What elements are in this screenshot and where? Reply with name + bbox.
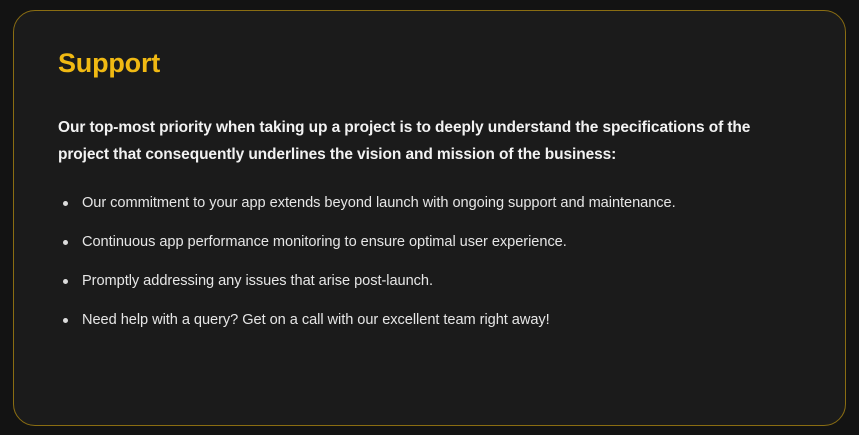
page-root: Support Our top-most priority when takin…	[0, 0, 859, 435]
intro-paragraph: Our top-most priority when taking up a p…	[58, 114, 801, 169]
page-title: Support	[58, 49, 801, 79]
bullet-dot-icon	[63, 201, 68, 206]
bullet-dot-icon	[63, 318, 68, 323]
support-feature-list: Our commitment to your app extends beyon…	[58, 191, 801, 333]
list-item-label: Need help with a query? Get on a call wi…	[82, 312, 550, 328]
list-item: Promptly addressing any issues that aris…	[58, 269, 762, 294]
list-item-label: Continuous app performance monitoring to…	[82, 234, 567, 250]
list-item-label: Promptly addressing any issues that aris…	[82, 273, 433, 289]
list-item: Our commitment to your app extends beyon…	[58, 191, 762, 216]
bullet-dot-icon	[63, 240, 68, 245]
list-item-label: Our commitment to your app extends beyon…	[82, 195, 676, 211]
list-item: Continuous app performance monitoring to…	[58, 230, 762, 255]
list-item: Need help with a query? Get on a call wi…	[58, 308, 762, 333]
bullet-dot-icon	[63, 279, 68, 284]
support-card: Support Our top-most priority when takin…	[13, 10, 846, 426]
